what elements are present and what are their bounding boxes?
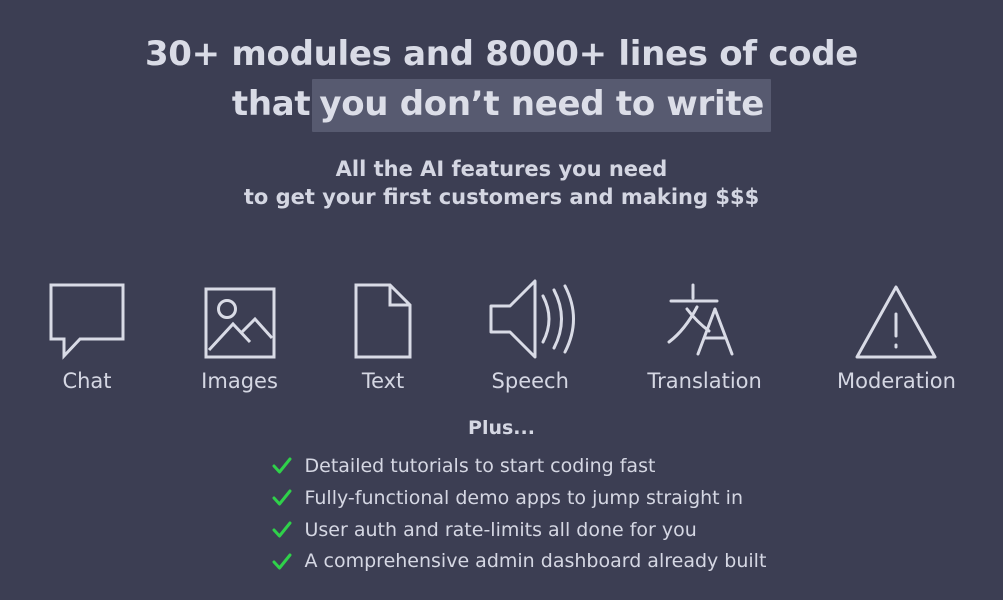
feature-label-images: Images	[201, 371, 278, 392]
list-item-label: A comprehensive admin dashboard already …	[305, 550, 767, 573]
slide-root: 30+ modules and 8000+ lines of code that…	[0, 0, 1003, 600]
check-icon	[271, 519, 293, 541]
headline-highlight: you don’t need to write	[312, 79, 771, 132]
list-item-label: Detailed tutorials to start coding fast	[305, 455, 656, 478]
check-icon	[271, 487, 293, 509]
feature-label-text: Text	[362, 371, 404, 392]
subtitle-line-2: to get your first customers and making $…	[0, 183, 1003, 211]
subtitle: All the AI features you need to get your…	[0, 155, 1003, 211]
feature-item-translation: Translation	[647, 268, 761, 392]
feature-item-moderation: Moderation	[837, 268, 956, 392]
headline-line-2: thatyou don’t need to write	[0, 79, 1003, 132]
check-icon	[271, 455, 293, 477]
headline-line-2-plain: that	[232, 84, 310, 124]
list-item-label: Fully-functional demo apps to jump strai…	[305, 487, 744, 510]
document-page-icon	[353, 268, 413, 360]
translate-glyph-icon	[667, 268, 743, 360]
check-icon	[271, 551, 293, 573]
list-item: Fully-functional demo apps to jump strai…	[271, 487, 733, 510]
subtitle-line-1: All the AI features you need	[0, 155, 1003, 183]
list-item: User auth and rate-limits all done for y…	[271, 519, 733, 542]
headline-line-1: 30+ modules and 8000+ lines of code	[0, 32, 1003, 77]
feature-item-chat: Chat	[48, 268, 126, 392]
feature-label-translation: Translation	[647, 371, 761, 392]
list-item-label: User auth and rate-limits all done for y…	[305, 519, 697, 542]
list-item: A comprehensive admin dashboard already …	[271, 550, 733, 573]
speech-bubble-icon	[48, 268, 126, 360]
feature-icon-row: Chat Images Text	[48, 252, 956, 392]
feature-item-text: Text	[353, 268, 413, 392]
list-item: Detailed tutorials to start coding fast	[271, 455, 733, 478]
feature-label-chat: Chat	[62, 371, 111, 392]
feature-label-moderation: Moderation	[837, 371, 956, 392]
warning-triangle-icon	[854, 268, 938, 360]
feature-label-speech: Speech	[492, 371, 569, 392]
feature-item-speech: Speech	[488, 268, 572, 392]
headline: 30+ modules and 8000+ lines of code that…	[0, 32, 1003, 132]
benefits-list: Detailed tutorials to start coding fast …	[0, 455, 1003, 573]
picture-frame-icon	[203, 268, 277, 360]
feature-item-images: Images	[201, 268, 278, 392]
plus-heading: Plus...	[0, 417, 1003, 439]
speaker-waves-icon	[488, 268, 572, 360]
